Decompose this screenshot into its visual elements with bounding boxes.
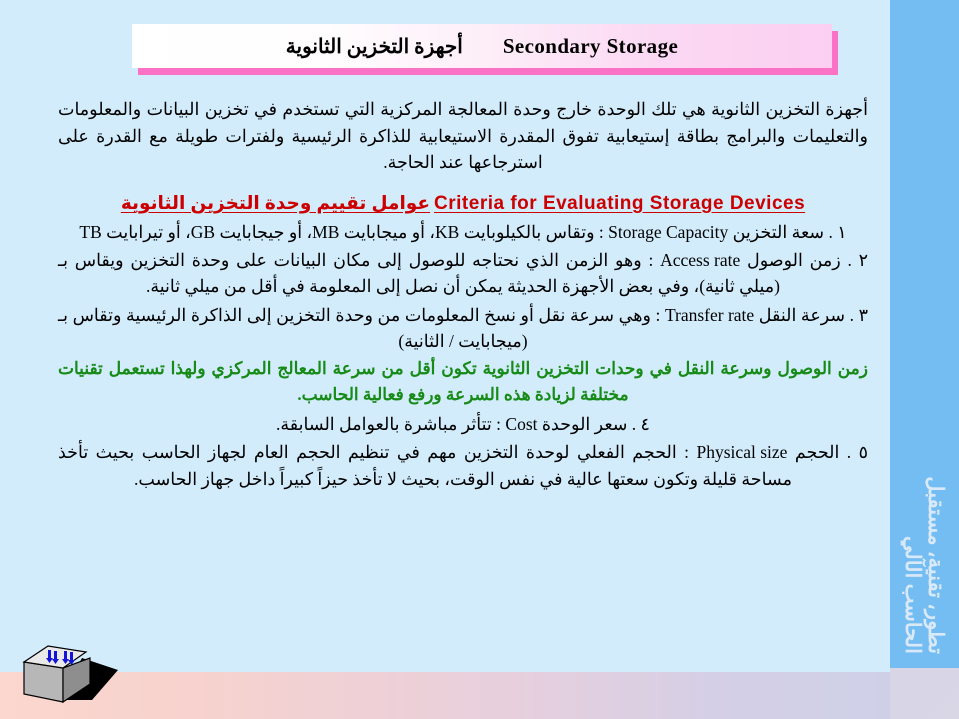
criteria-item-3-number: ٣ . — [850, 305, 868, 325]
side-band-text-group: تطور، تقنية، مستقبل الحاسب الآلي — [890, 0, 959, 668]
criteria-item-2-label: زمن الوصول — [747, 250, 841, 270]
title-arabic: أجهزة التخزين الثانوية — [286, 34, 463, 59]
criteria-item-1-label: سعة التخزين — [733, 222, 824, 242]
criteria-item-3-body: : وهي سرعة نقل أو نسخ المعلومات من وحدة … — [58, 305, 660, 351]
criteria-item-2-number: ٢ . — [848, 250, 869, 270]
criteria-item-5: ٥ . الحجم Physical size : الحجم الفعلي ل… — [58, 439, 868, 492]
title-box: Secondary Storage أجهزة التخزين الثانوية — [132, 24, 832, 68]
side-band-line-1: تطور، تقنية، مستقبل — [925, 0, 947, 654]
criteria-item-5-body: : الحجم الفعلي لوحدة التخزين مهم في تنظي… — [58, 442, 792, 488]
criteria-item-4: ٤ . سعر الوحدة Cost : تتأثر مباشرة بالعو… — [58, 411, 868, 437]
criteria-item-4-body: : تتأثر مباشرة بالعوامل السابقة. — [276, 414, 501, 434]
criteria-item-5-number: ٥ . — [847, 442, 868, 462]
body-area: أجهزة التخزين الثانوية هي تلك الوحدة خار… — [58, 96, 868, 494]
criteria-item-2: ٢ . زمن الوصول Access rate : وهو الزمن ا… — [58, 247, 868, 300]
criteria-item-3-term: Transfer rate — [665, 302, 754, 328]
criteria-heading-arabic: عوامل تقييم وحدة التخزين الثانوية — [121, 192, 430, 213]
side-band: تطور، تقنية، مستقبل الحاسب الآلي — [890, 0, 959, 668]
green-note: زمن الوصول وسرعة النقل في وحدات التخزين … — [58, 356, 868, 407]
criteria-item-1-term: Storage Capacity — [608, 219, 728, 245]
criteria-item-4-label: سعر الوحدة — [542, 414, 628, 434]
criteria-item-3: ٣ . سرعة النقل Transfer rate : وهي سرعة … — [58, 302, 868, 355]
title-bar: Secondary Storage أجهزة التخزين الثانوية — [132, 24, 832, 68]
criteria-item-1-number: ١ . — [828, 222, 846, 242]
side-band-line-2: الحاسب الآلي — [902, 0, 924, 654]
criteria-heading: Criteria for Evaluating Storage Devices … — [58, 192, 868, 215]
criteria-item-1-body: : وتقاس بالكيلوبايت KB، أو ميجابايت MB، … — [79, 222, 603, 242]
criteria-item-4-term: Cost — [505, 411, 537, 437]
criteria-item-4-number: ٤ . — [632, 414, 650, 434]
slide-root: تطور، تقنية، مستقبل الحاسب الآلي Seconda… — [0, 0, 959, 719]
criteria-item-2-term: Access rate — [660, 247, 740, 273]
criteria-item-5-label: الحجم — [795, 442, 839, 462]
criteria-item-5-term: Physical size — [697, 439, 788, 465]
title-english: Secondary Storage — [503, 34, 678, 59]
criteria-heading-english: Criteria for Evaluating Storage Devices — [434, 193, 805, 215]
keyboard-key-icon — [18, 628, 138, 708]
intro-paragraph: أجهزة التخزين الثانوية هي تلك الوحدة خار… — [58, 96, 868, 176]
criteria-item-3-label: سرعة النقل — [759, 305, 845, 325]
criteria-item-1: ١ . سعة التخزين Storage Capacity : وتقاس… — [58, 219, 868, 245]
